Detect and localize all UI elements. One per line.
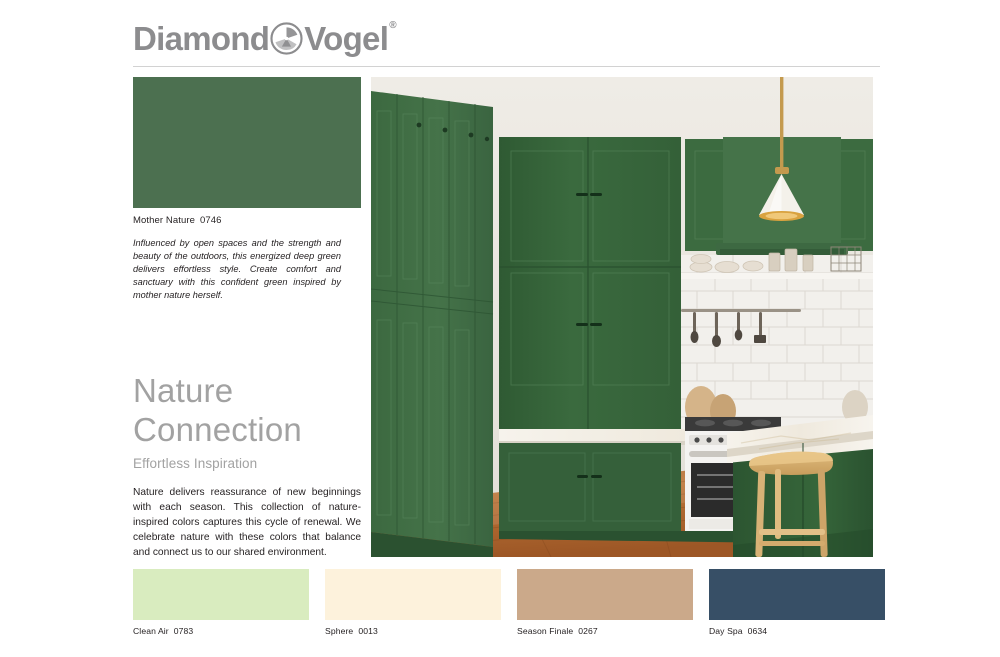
collection-block: Nature Connection Effortless Inspiration… bbox=[133, 372, 365, 560]
palette-color-name: Day Spa bbox=[709, 626, 743, 636]
palette-color-code: 0013 bbox=[358, 626, 378, 636]
page-header: Diamond Vogel ® bbox=[133, 16, 880, 66]
featured-color-description: Influenced by open spaces and the streng… bbox=[133, 237, 341, 302]
collection-title-line-2: Connection bbox=[133, 411, 365, 450]
palette-swatch-clean-air: Clean Air0783 bbox=[133, 569, 309, 636]
collection-title: Nature Connection bbox=[133, 372, 365, 450]
header-divider bbox=[133, 66, 880, 67]
featured-color-code: 0746 bbox=[200, 215, 222, 226]
brand-logo[interactable]: Diamond Vogel ® bbox=[133, 16, 880, 60]
palette-color-name: Clean Air bbox=[133, 626, 169, 636]
brand-name-second: Vogel bbox=[304, 22, 388, 55]
featured-color-label: Mother Nature0746 bbox=[133, 215, 361, 226]
palette-caption: Day Spa0634 bbox=[709, 626, 885, 636]
palette-chip[interactable] bbox=[709, 569, 885, 620]
palette-swatch-sphere: Sphere0013 bbox=[325, 569, 501, 636]
windmill-circle-emblem-icon bbox=[270, 22, 303, 55]
collection-title-line-1: Nature bbox=[133, 372, 233, 409]
palette-swatch-season-finale: Season Finale0267 bbox=[517, 569, 693, 636]
palette-chip[interactable] bbox=[133, 569, 309, 620]
featured-color-name: Mother Nature bbox=[133, 215, 195, 226]
palette-caption: Sphere0013 bbox=[325, 626, 501, 636]
palette-chip[interactable] bbox=[325, 569, 501, 620]
palette-swatch-day-spa: Day Spa0634 bbox=[709, 569, 885, 636]
brand-name-first: Diamond bbox=[133, 22, 269, 55]
registered-trademark-mark: ® bbox=[389, 20, 396, 31]
featured-color-swatch[interactable] bbox=[133, 77, 361, 208]
palette-chip[interactable] bbox=[517, 569, 693, 620]
palette-color-code: 0634 bbox=[748, 626, 768, 636]
collection-body-text: Nature delivers reassurance of new begin… bbox=[133, 485, 361, 560]
featured-color-column: Mother Nature0746 Influenced by open spa… bbox=[133, 77, 361, 302]
kitchen-room-photo bbox=[371, 77, 873, 557]
palette-color-code: 0783 bbox=[174, 626, 194, 636]
palette-color-name: Season Finale bbox=[517, 626, 573, 636]
palette-caption: Clean Air0783 bbox=[133, 626, 309, 636]
palette-color-code: 0267 bbox=[578, 626, 598, 636]
collection-subtitle: Effortless Inspiration bbox=[133, 456, 365, 471]
collection-palette-row: Clean Air0783 Sphere0013 Season Finale02… bbox=[133, 569, 873, 636]
palette-color-name: Sphere bbox=[325, 626, 353, 636]
color-palette-page: Diamond Vogel ® Mother Nature0746 Influe… bbox=[0, 0, 1000, 657]
palette-caption: Season Finale0267 bbox=[517, 626, 693, 636]
